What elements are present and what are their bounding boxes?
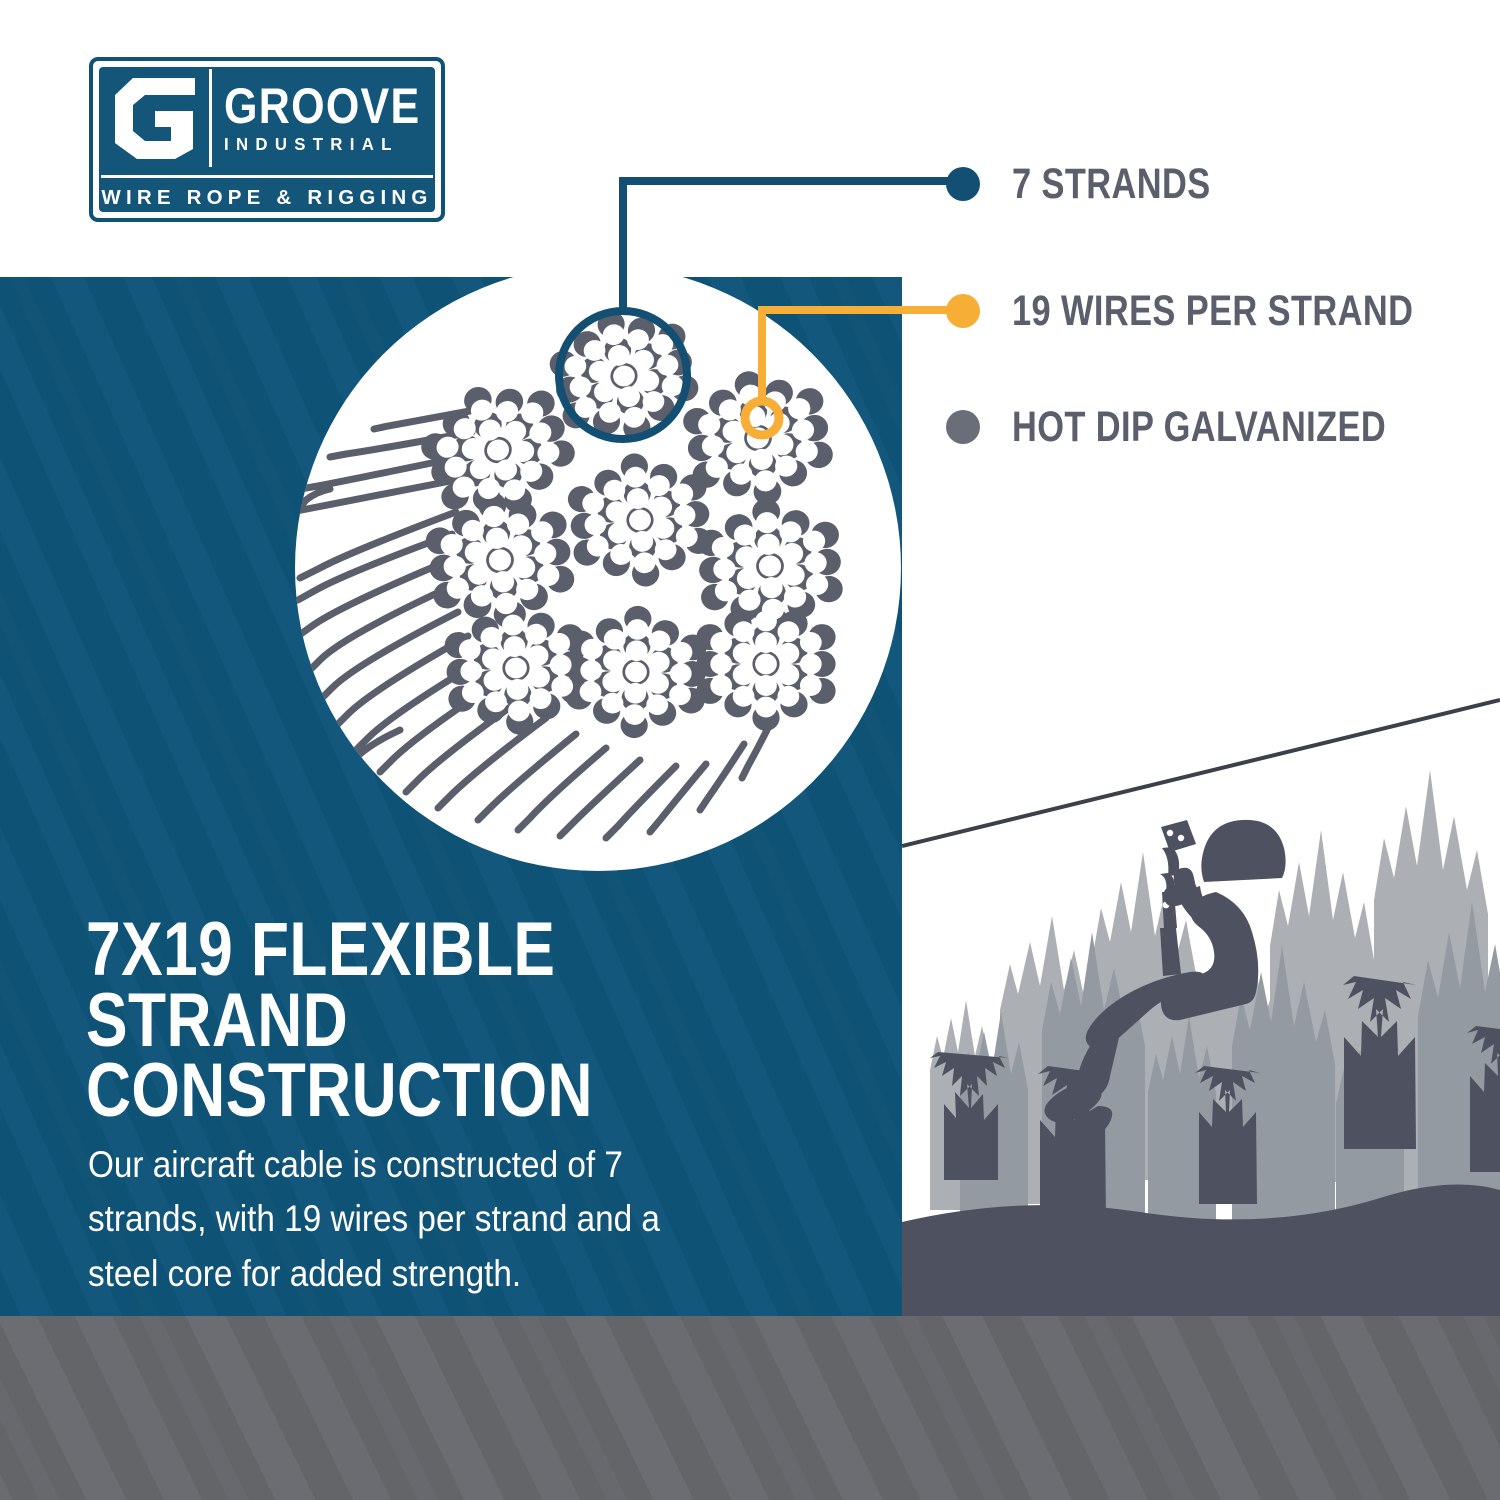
- groove-g-monogram-icon: [111, 73, 199, 163]
- body-line-2: strands, with 19 wires per strand and a: [88, 1192, 808, 1246]
- callout-dot-icon: [946, 167, 980, 201]
- description-text: Our aircraft cable is constructed of 7 s…: [88, 1138, 808, 1301]
- logo-rule: [101, 175, 433, 178]
- callout-label: HOT DIP GALVANIZED: [1012, 403, 1386, 452]
- logo-wordmark: GROOVE INDUSTRIAL: [224, 71, 433, 167]
- leader-line-strands: [623, 181, 963, 310]
- logo-divider: [209, 69, 212, 167]
- body-line-3: steel core for added strength.: [88, 1247, 808, 1301]
- brand-logo[interactable]: GROOVE INDUSTRIAL WIRE ROPE & RIGGING: [89, 57, 445, 222]
- headline-line-2: STRAND CONSTRUCTION: [86, 986, 742, 1127]
- logo-name-primary: GROOVE: [224, 83, 404, 129]
- callout-label: 7 STRANDS: [1012, 160, 1211, 209]
- headline-line-1: 7X19 FLEXIBLE: [86, 915, 742, 986]
- callout-7-strands[interactable]: 7 STRANDS: [946, 154, 1260, 214]
- callout-label: 19 WIRES PER STRAND: [1012, 287, 1413, 336]
- logo-tagline: WIRE ROPE & RIGGING: [89, 181, 445, 215]
- callout-dot-icon: [946, 294, 980, 328]
- callout-hot-dip-galvanized[interactable]: HOT DIP GALVANIZED: [946, 397, 1480, 457]
- leader-line-wires: [762, 310, 963, 400]
- infographic-canvas: GROOVE INDUSTRIAL WIRE ROPE & RIGGING 7 …: [0, 0, 1500, 1500]
- callout-19-wires-per-strand[interactable]: 19 WIRES PER STRAND: [946, 281, 1500, 341]
- logo-name-secondary: INDUSTRIAL: [224, 134, 425, 155]
- page-title: 7X19 FLEXIBLE STRAND CONSTRUCTION: [86, 915, 742, 1127]
- callout-dot-icon: [946, 410, 980, 444]
- body-line-1: Our aircraft cable is constructed of 7: [88, 1138, 808, 1192]
